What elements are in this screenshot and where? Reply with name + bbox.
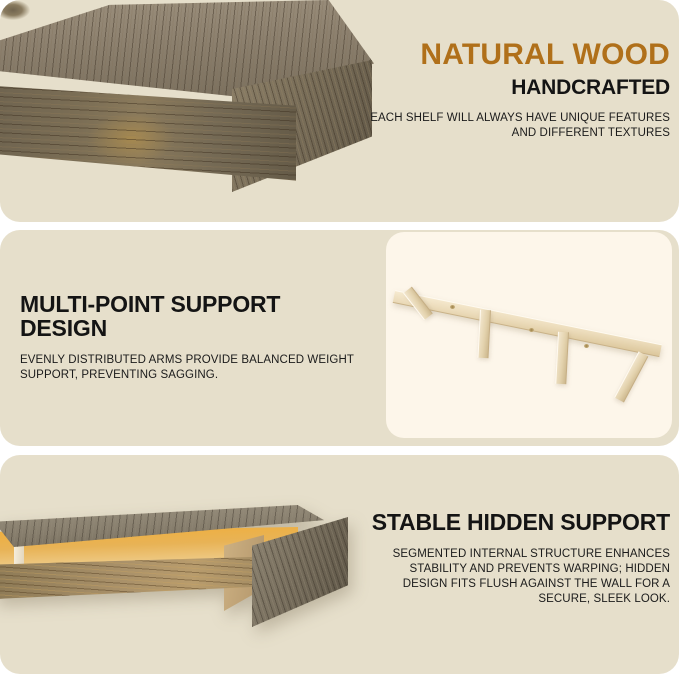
bracket-arm-2: [477, 310, 490, 359]
panel-3-body: SEGMENTED INTERNAL STRUCTURE ENHANCES ST…: [370, 547, 670, 607]
solid-wood-plank-photo: [0, 0, 374, 200]
wood-knot: [0, 0, 30, 20]
panel-3-text-block: STABLE HIDDEN SUPPORT SEGMENTED INTERNAL…: [370, 510, 670, 607]
panel-1-body: EACH SHELF WILL ALWAYS HAVE UNIQUE FEATU…: [370, 111, 670, 141]
screw-hole-1: [450, 305, 455, 309]
panel-1-text-block: NATURAL WOOD HANDCRAFTED EACH SHELF WILL…: [370, 40, 670, 141]
panel-2-headline: MULTI-POINT SUPPORT DESIGN: [20, 292, 370, 340]
bracket-arm-3: [555, 332, 569, 385]
product-feature-sheet: NATURAL WOOD HANDCRAFTED EACH SHELF WILL…: [0, 0, 679, 674]
panel-1-headline: HANDCRAFTED: [370, 77, 670, 99]
pine-wall-bracket-photo: [386, 232, 672, 438]
hollow-shelf-box-photo: [0, 505, 374, 665]
panel-2-body: EVENLY DISTRIBUTED ARMS PROVIDE BALANCED…: [20, 353, 370, 383]
screw-hole-3: [584, 344, 589, 348]
screw-hole-2: [529, 328, 534, 332]
feature-panel-natural-wood: NATURAL WOOD HANDCRAFTED EACH SHELF WILL…: [0, 0, 679, 222]
feature-panel-stable-hidden-support: STABLE HIDDEN SUPPORT SEGMENTED INTERNAL…: [0, 455, 679, 674]
bracket-main-rail: [393, 290, 662, 357]
feature-panel-multi-point-support: MULTI-POINT SUPPORT DESIGN EVENLY DISTRI…: [0, 230, 679, 446]
panel-2-text-block: MULTI-POINT SUPPORT DESIGN EVENLY DISTRI…: [20, 292, 370, 383]
panel-3-headline: STABLE HIDDEN SUPPORT: [370, 510, 670, 534]
bracket-arm-4: [614, 351, 648, 402]
panel-1-kicker: NATURAL WOOD: [370, 40, 670, 71]
